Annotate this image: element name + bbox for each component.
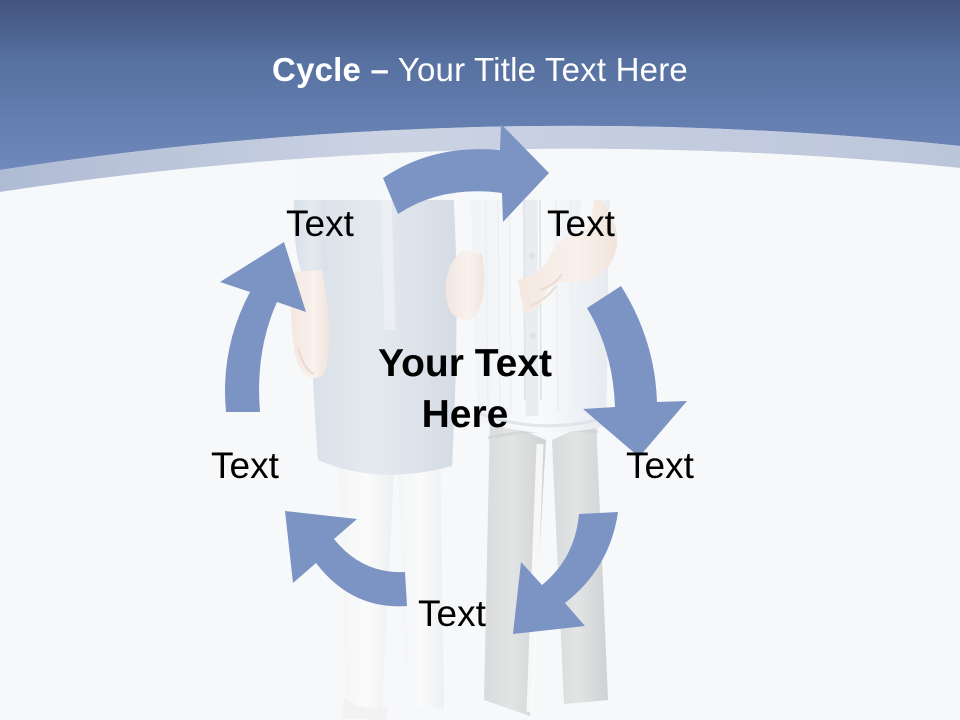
cycle-label-top-right[interactable]: Text xyxy=(547,202,615,246)
cycle-center-text[interactable]: Your Text Here xyxy=(330,338,600,440)
cycle-label-left[interactable]: Text xyxy=(211,444,279,488)
slide-canvas: Cycle – Your Title Text Here Text Text T… xyxy=(0,0,960,720)
cycle-label-top-left[interactable]: Text xyxy=(286,202,354,246)
title-light-part: Your Title Text Here xyxy=(389,51,688,88)
title-bold-part: Cycle – xyxy=(272,51,389,88)
arrow-bottom-left-icon[interactable] xyxy=(285,511,407,606)
cycle-label-right[interactable]: Text xyxy=(626,444,694,488)
cycle-label-bottom[interactable]: Text xyxy=(418,592,486,636)
arrow-top-icon[interactable] xyxy=(383,124,549,222)
arrow-left-icon[interactable] xyxy=(220,242,306,412)
arrow-bottom-right-icon[interactable] xyxy=(513,512,618,634)
page-title: Cycle – Your Title Text Here xyxy=(0,50,960,90)
